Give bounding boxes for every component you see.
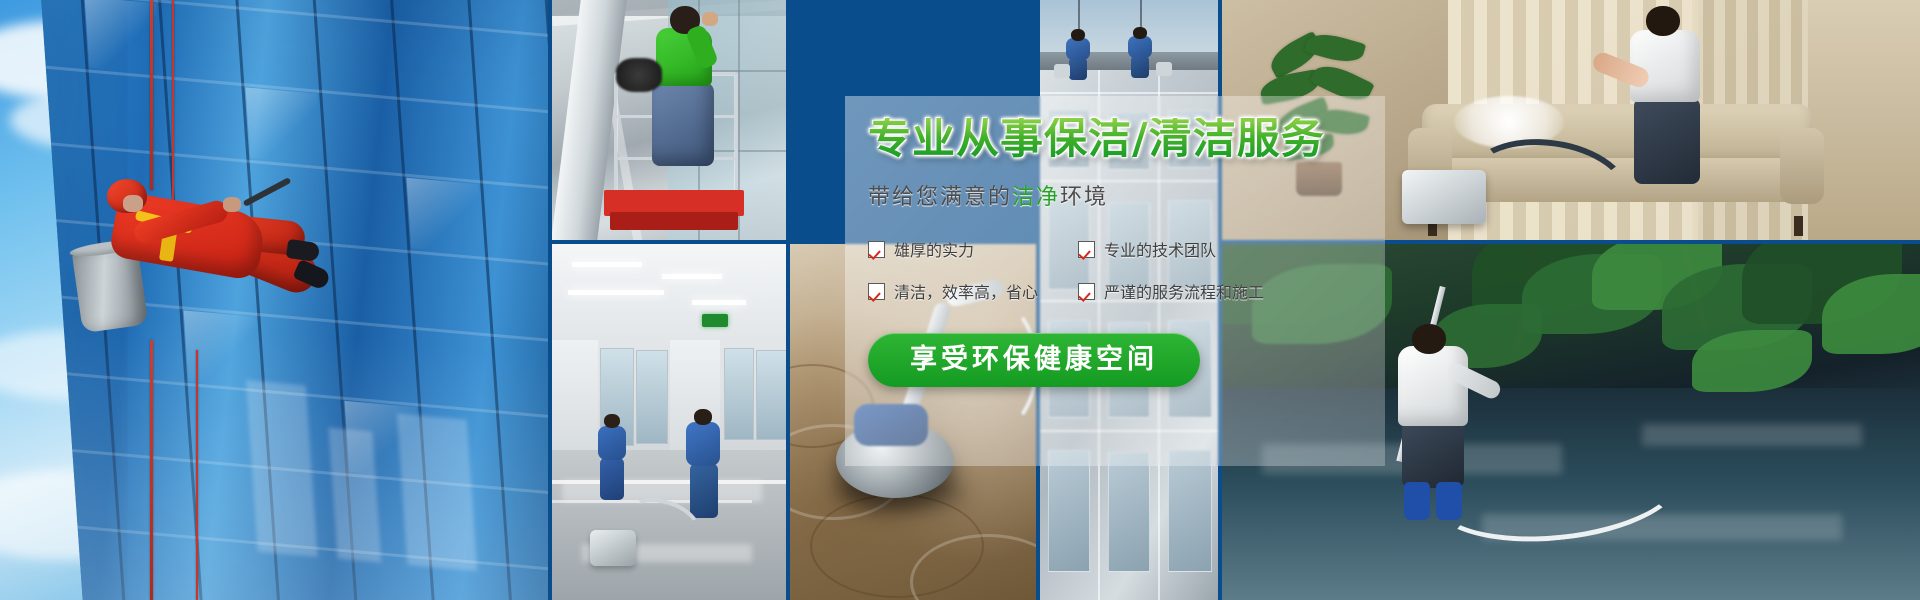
feature-item: 专业的技术团队 — [1078, 237, 1288, 261]
squeegee-icon — [243, 177, 292, 207]
feature-row: 清洁，效率高，省心 严谨的服务流程和施工 — [868, 279, 1288, 303]
page-title: 专业从事保洁/清洁服务 — [868, 118, 1388, 161]
checkbox-checked-icon — [1078, 283, 1095, 300]
promo-text-overlay: 专业从事保洁/清洁服务 带给您满意的洁净环境 雄厚的实力 专业的技术团队 清洁，… — [868, 118, 1388, 458]
cleaning-worker — [684, 422, 724, 518]
cleaning-mop-icon — [616, 58, 662, 92]
feature-label: 严谨的服务流程和施工 — [1104, 279, 1264, 303]
cleaning-services-banner: 专业从事保洁/清洁服务 带给您满意的洁净环境 雄厚的实力 专业的技术团队 清洁，… — [0, 0, 1920, 600]
feature-row: 雄厚的实力 专业的技术团队 — [868, 237, 1288, 261]
subtitle-suffix: 环境 — [1060, 185, 1108, 210]
pond-cleaning-worker — [1384, 332, 1480, 514]
exit-sign-icon — [702, 314, 728, 327]
photo-rope-access-window-cleaner — [0, 0, 548, 600]
subtitle: 带给您满意的洁净环境 — [868, 179, 1388, 211]
feature-label: 专业的技术团队 — [1104, 237, 1216, 261]
checkbox-checked-icon — [868, 241, 885, 258]
facade-worker — [1128, 36, 1152, 76]
feature-list: 雄厚的实力 专业的技术团队 清洁，效率高，省心 严谨的服务流程和施工 — [868, 237, 1288, 303]
safety-rope — [196, 350, 198, 600]
safety-rope — [150, 0, 153, 190]
sofa-cleaning-worker — [1618, 8, 1714, 184]
cleaning-worker — [596, 426, 630, 500]
checkbox-checked-icon — [1078, 241, 1095, 258]
rope-access-worker — [95, 165, 310, 355]
water-bucket — [1156, 62, 1172, 76]
vacuum-machine — [590, 530, 636, 566]
feature-item: 雄厚的实力 — [868, 237, 1078, 261]
feature-label: 雄厚的实力 — [894, 237, 974, 261]
feature-label: 清洁，效率高，省心 — [894, 279, 1038, 303]
subtitle-highlight: 洁净 — [1012, 185, 1060, 210]
safety-rope — [150, 340, 153, 600]
subtitle-prefix: 带给您满意的 — [868, 185, 1012, 210]
photo-lift-platform-worker — [552, 0, 786, 240]
feature-item: 清洁，效率高，省心 — [868, 279, 1078, 303]
photo-corridor-floor-cleaning — [552, 244, 786, 600]
checkbox-checked-icon — [868, 283, 885, 300]
extraction-machine — [1402, 170, 1486, 224]
cta-button[interactable]: 享受环保健康空间 — [868, 333, 1200, 387]
water-bucket — [1054, 64, 1070, 78]
feature-item: 严谨的服务流程和施工 — [1078, 279, 1288, 303]
